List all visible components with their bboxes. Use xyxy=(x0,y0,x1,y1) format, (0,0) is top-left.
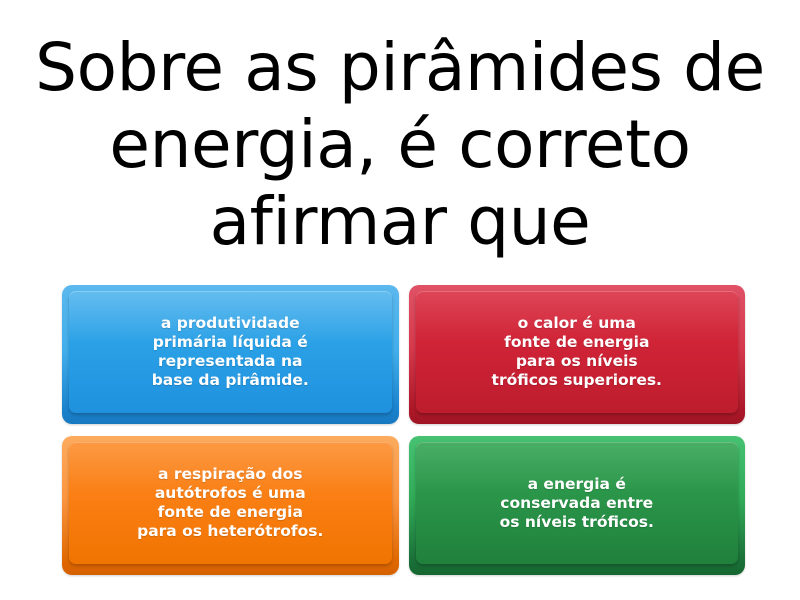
answer-option-blue[interactable]: a produtividade primária líquida é repre… xyxy=(62,285,399,424)
answer-option-blue-surface: a produtividade primária líquida é repre… xyxy=(69,291,392,413)
question-text: Sobre as pirâmides de energia, é correto… xyxy=(34,29,766,261)
answer-options-grid: a produtividade primária líquida é repre… xyxy=(0,285,800,600)
quiz-stage: Sobre as pirâmides de energia, é correto… xyxy=(0,0,800,600)
answer-option-green[interactable]: a energia é conservada entre os níveis t… xyxy=(409,436,746,575)
answer-option-orange-label: a respiração dos autótrofos é uma fonte … xyxy=(137,465,323,541)
answer-option-red[interactable]: o calor é uma fonte de energia para os n… xyxy=(409,285,746,424)
answer-option-orange-surface: a respiração dos autótrofos é uma fonte … xyxy=(69,442,392,564)
answer-option-red-surface: o calor é uma fonte de energia para os n… xyxy=(416,291,739,413)
question-area: Sobre as pirâmides de energia, é correto… xyxy=(0,0,800,285)
answer-option-green-surface: a energia é conservada entre os níveis t… xyxy=(416,442,739,564)
answer-option-red-label: o calor é uma fonte de energia para os n… xyxy=(492,314,662,390)
answer-option-green-label: a energia é conservada entre os níveis t… xyxy=(500,475,654,532)
answer-option-orange[interactable]: a respiração dos autótrofos é uma fonte … xyxy=(62,436,399,575)
answer-option-blue-label: a produtividade primária líquida é repre… xyxy=(152,314,309,390)
